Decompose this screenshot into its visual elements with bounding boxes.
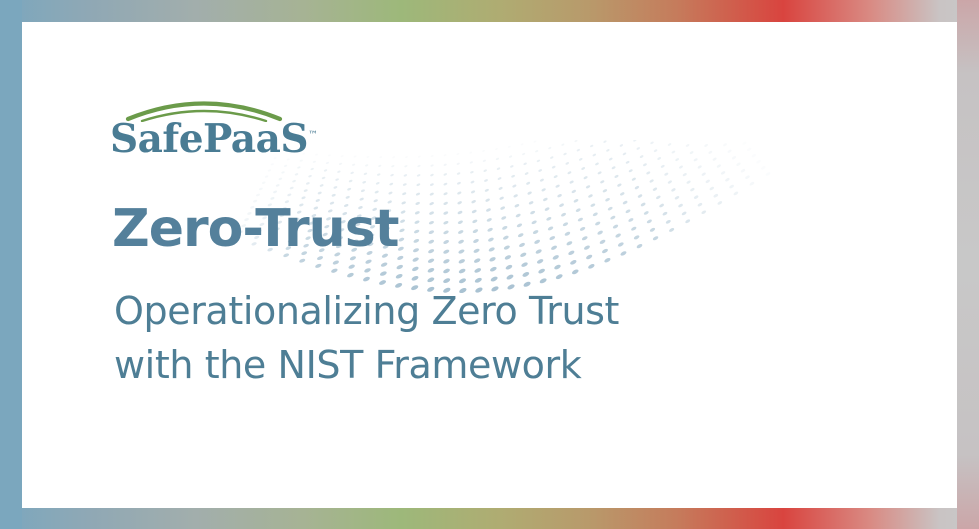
safepaas-logo: SafePaaS™ [110,92,300,164]
page-subtitle: Operationalizing Zero Trust with the NIS… [114,284,619,392]
page-subtitle-line-2: with the NIST Framework [114,338,619,392]
logo-trademark-symbol: ™ [308,130,318,141]
logo-wordmark-text: SafePaaS [110,116,308,162]
border-band-right [957,0,979,529]
border-band-bottom [0,508,979,529]
border-band-top [0,0,979,22]
slide-canvas: SafePaaS™ Zero-Trust Operationalizing Ze… [0,0,979,529]
border-band-left [0,0,22,529]
page-title: Zero-Trust [112,200,399,258]
logo-wordmark: SafePaaS™ [110,116,318,162]
page-subtitle-line-1: Operationalizing Zero Trust [114,284,619,338]
slide-content-area: SafePaaS™ Zero-Trust Operationalizing Ze… [22,22,957,508]
